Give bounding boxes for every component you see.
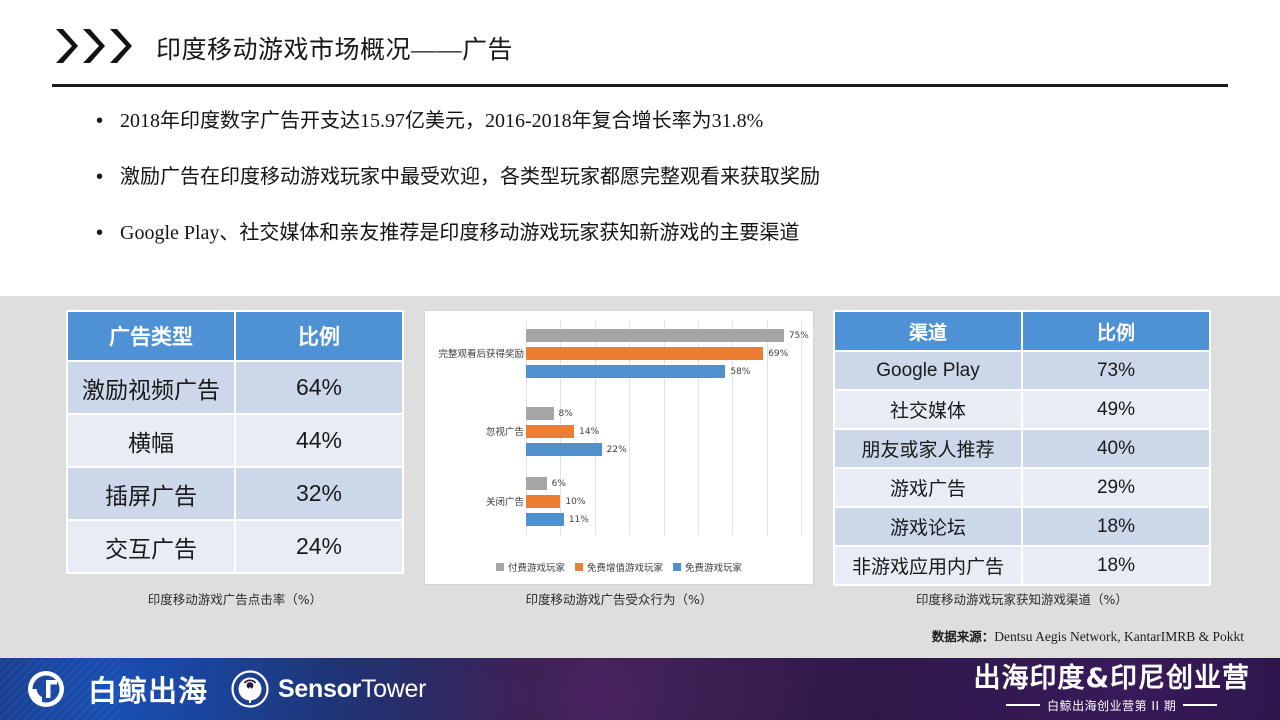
chart-bar-value: 69%: [763, 349, 788, 359]
chart-caption: 印度移动游戏广告受众行为（%）: [424, 589, 814, 608]
table-row: 交互广告 24%: [67, 520, 403, 573]
chart-bar-value: 22%: [602, 445, 627, 455]
cell-channel: 游戏论坛: [834, 507, 1022, 546]
campaign-subtitle-row: 白鲸出海创业营第 II 期: [1006, 697, 1217, 714]
legend-label: 免费增值游戏玩家: [587, 560, 663, 574]
chart-bar-value: 8%: [554, 409, 573, 419]
chart-legend: 付费游戏玩家 免费增值游戏玩家 免费游戏玩家: [425, 560, 813, 574]
legend-item: 付费游戏玩家: [496, 560, 565, 574]
cell-ad-type: 横幅: [67, 414, 235, 467]
legend-label: 免费游戏玩家: [685, 560, 742, 574]
chart-bar-value: 58%: [725, 367, 750, 377]
chart-bar-row: 69%: [526, 347, 801, 360]
cell-channel: Google Play: [834, 351, 1022, 390]
cell-ad-type: 插屏广告: [67, 467, 235, 520]
chevron-group: [52, 26, 132, 66]
bullet-item: • 激励广告在印度移动游戏玩家中最受欢迎，各类型玩家都愿完整观看来获取奖励: [96, 164, 1206, 190]
page-title: 印度移动游戏市场概况——广告: [156, 30, 513, 66]
legend-swatch-icon: [575, 563, 583, 571]
legend-swatch-icon: [673, 563, 681, 571]
chart-bar: [526, 407, 554, 420]
bullet-text: 激励广告在印度移动游戏玩家中最受欢迎，各类型玩家都愿完整观看来获取奖励: [120, 164, 820, 190]
cell-ratio: 64%: [235, 361, 403, 414]
chevron-right-icon: [106, 26, 132, 66]
chart-bar-value: 11%: [564, 515, 589, 525]
bullet-marker: •: [96, 164, 104, 190]
bullet-item: • Google Play、社交媒体和亲友推荐是印度移动游戏玩家获知新游戏的主要…: [96, 220, 1206, 246]
chart-bar: [526, 329, 784, 342]
rule-right: [1183, 704, 1217, 706]
partner-name-light: Tower: [361, 675, 426, 703]
cell-ratio: 73%: [1022, 351, 1210, 390]
bullet-marker: •: [96, 108, 104, 134]
slide-root: 印度移动游戏市场概况——广告 • 2018年印度数字广告开支达15.97亿美元，…: [0, 0, 1280, 720]
legend-label: 付费游戏玩家: [508, 560, 565, 574]
data-source-label: 数据来源：: [932, 629, 995, 644]
sensortower-logo-icon: [230, 669, 270, 709]
data-source-note: 数据来源：Dentsu Aegis Network, KantarIMRB & …: [932, 626, 1244, 645]
chart-bar-row: 22%: [526, 443, 801, 456]
slide-header: 印度移动游戏市场概况——广告: [0, 0, 1280, 92]
chart-category-label: 忽视广告: [486, 424, 524, 438]
bullet-item: • 2018年印度数字广告开支达15.97亿美元，2016-2018年复合增长率…: [96, 108, 1206, 134]
chart-bar: [526, 513, 564, 526]
rule-left: [1006, 704, 1040, 706]
column-header-channel: 渠道: [834, 311, 1022, 351]
chart-category-group: 忽视广告 8% 14% 22%: [425, 407, 809, 459]
partner-name-bold: Sensor: [278, 675, 361, 703]
cell-channel: 游戏广告: [834, 468, 1022, 507]
chart-bar-row: 58%: [526, 365, 801, 378]
cell-ad-type: 激励视频广告: [67, 361, 235, 414]
bullet-marker: •: [96, 220, 104, 246]
cell-ad-type: 交互广告: [67, 520, 235, 573]
table-row: 社交媒体 49%: [834, 390, 1210, 429]
chart-plot-area: 完整观看后获得奖励 75% 69% 58%: [425, 315, 809, 543]
cell-ratio: 18%: [1022, 546, 1210, 585]
legend-swatch-icon: [496, 563, 504, 571]
footer-logos: 白鲸出海 SensorTower: [26, 658, 426, 720]
slide-footer: 白鲸出海 SensorTower 出海印度&印尼创业营 白鲸出海创业营第 II …: [0, 658, 1280, 720]
right-table-caption: 印度移动游戏玩家获知游戏渠道（%）: [833, 589, 1211, 608]
cell-ratio: 29%: [1022, 468, 1210, 507]
table-row: 横幅 44%: [67, 414, 403, 467]
panel-row: 广告类型 比例 激励视频广告 64% 横幅 44% 插屏广告 3: [0, 306, 1280, 606]
chart-bar-row: 75%: [526, 329, 801, 342]
brand-name: 白鲸出海: [88, 668, 208, 710]
legend-item: 免费增值游戏玩家: [575, 560, 663, 574]
table-row: 朋友或家人推荐 40%: [834, 429, 1210, 468]
table-header-row: 渠道 比例: [834, 311, 1210, 351]
table-header-row: 广告类型 比例: [67, 311, 403, 361]
chart-bar-row: 8%: [526, 407, 801, 420]
chart-bar: [526, 365, 725, 378]
chart-bar: [526, 425, 574, 438]
data-source-value: Dentsu Aegis Network, KantarIMRB & Pokkt: [994, 629, 1244, 644]
chart-bar-row: 11%: [526, 513, 801, 526]
channel-table: 渠道 比例 Google Play 73% 社交媒体 49% 朋友或家人推荐: [833, 310, 1211, 586]
sensortower-logo: SensorTower: [230, 669, 426, 709]
campaign-subtitle: 白鲸出海创业营第 II 期: [1047, 697, 1176, 714]
header-divider: [52, 84, 1228, 87]
bullet-text: 2018年印度数字广告开支达15.97亿美元，2016-2018年复合增长率为3…: [120, 108, 763, 134]
ad-type-table: 广告类型 比例 激励视频广告 64% 横幅 44% 插屏广告 3: [66, 310, 404, 574]
chevron-right-icon: [52, 26, 78, 66]
chart-bar-row: 14%: [526, 425, 801, 438]
chart-bar: [526, 443, 602, 456]
baijing-g-logo-icon: [26, 669, 66, 709]
chart-bar-value: 14%: [574, 427, 599, 437]
chart-category-group: 完整观看后获得奖励 75% 69% 58%: [425, 329, 809, 381]
footer-campaign: 出海印度&印尼创业营 白鲸出海创业营第 II 期: [973, 658, 1250, 720]
chart-bar-value: 10%: [560, 497, 585, 507]
audience-behavior-chart: 完整观看后获得奖励 75% 69% 58%: [424, 310, 814, 585]
column-header-ad-type: 广告类型: [67, 311, 235, 361]
chart-bar: [526, 347, 763, 360]
chart-bar-row: 6%: [526, 477, 801, 490]
campaign-title: 出海印度&印尼创业营: [973, 664, 1250, 694]
chart-category-group: 关闭广告 6% 10% 11%: [425, 477, 809, 529]
legend-item: 免费游戏玩家: [673, 560, 742, 574]
table-row: 游戏广告 29%: [834, 468, 1210, 507]
chart-bar-value: 75%: [784, 331, 809, 341]
bullet-text: Google Play、社交媒体和亲友推荐是印度移动游戏玩家获知新游戏的主要渠道: [120, 220, 799, 246]
table-row: 非游戏应用内广告 18%: [834, 546, 1210, 585]
cell-channel: 社交媒体: [834, 390, 1022, 429]
left-table-caption: 印度移动游戏广告点击率（%）: [66, 589, 404, 608]
table-row: 插屏广告 32%: [67, 467, 403, 520]
cell-channel: 非游戏应用内广告: [834, 546, 1022, 585]
table-row: Google Play 73%: [834, 351, 1210, 390]
chart-bar: [526, 495, 560, 508]
chart-bar-value: 6%: [547, 479, 566, 489]
column-header-ratio: 比例: [235, 311, 403, 361]
cell-ratio: 40%: [1022, 429, 1210, 468]
chart-category-label: 完整观看后获得奖励: [438, 346, 524, 360]
cell-ratio: 44%: [235, 414, 403, 467]
cell-ratio: 32%: [235, 467, 403, 520]
partner-name: SensorTower: [278, 675, 426, 704]
chart-bar: [526, 477, 547, 490]
table-row: 游戏论坛 18%: [834, 507, 1210, 546]
cell-ratio: 49%: [1022, 390, 1210, 429]
cell-channel: 朋友或家人推荐: [834, 429, 1022, 468]
cell-ratio: 24%: [235, 520, 403, 573]
cell-ratio: 18%: [1022, 507, 1210, 546]
chevron-right-icon: [79, 26, 105, 66]
table-row: 激励视频广告 64%: [67, 361, 403, 414]
chart-category-label: 关闭广告: [486, 494, 524, 508]
bullet-list: • 2018年印度数字广告开支达15.97亿美元，2016-2018年复合增长率…: [96, 108, 1206, 276]
column-header-ratio: 比例: [1022, 311, 1210, 351]
chart-bar-row: 10%: [526, 495, 801, 508]
